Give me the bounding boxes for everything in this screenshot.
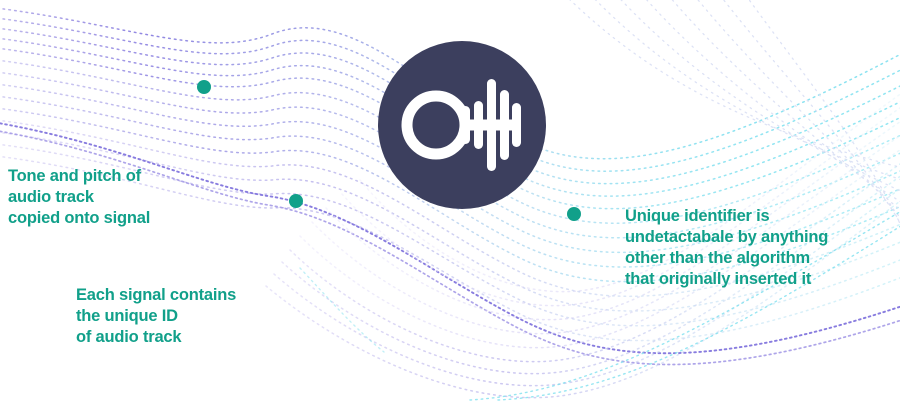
- key-waveform-icon: [378, 41, 546, 209]
- callout-each-signal: Each signal contains the unique ID of au…: [76, 285, 236, 348]
- callout-tone-and-pitch: Tone and pitch of audio track copied ont…: [8, 166, 150, 229]
- audio-watermark-logo-badge: [378, 41, 546, 209]
- infographic-canvas: Tone and pitch of audio track copied ont…: [0, 0, 900, 401]
- each-signal-marker-dot: [289, 194, 303, 208]
- callout-unique-identifier: Unique identifier is undetactabale by an…: [625, 206, 828, 290]
- tone-and-pitch-marker-dot: [197, 80, 211, 94]
- unique-identifier-marker-dot: [567, 207, 581, 221]
